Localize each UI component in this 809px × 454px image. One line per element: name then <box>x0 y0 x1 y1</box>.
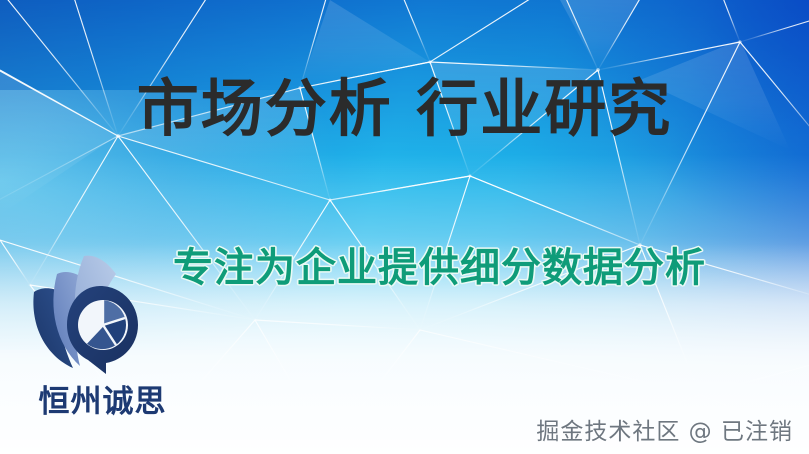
logo-wordmark: 恒州诚思 <box>10 376 195 421</box>
leaf-pie-chart-logo-mark <box>26 248 152 376</box>
watermark-credit: 掘金技术社区 @ 已注销 <box>536 421 793 444</box>
banner-image: 市场分析 行业研究 专注为企业提供细分数据分析 <box>0 0 809 454</box>
page-title: 市场分析 行业研究 <box>0 78 809 140</box>
company-logo: 恒州诚思 <box>10 248 195 430</box>
